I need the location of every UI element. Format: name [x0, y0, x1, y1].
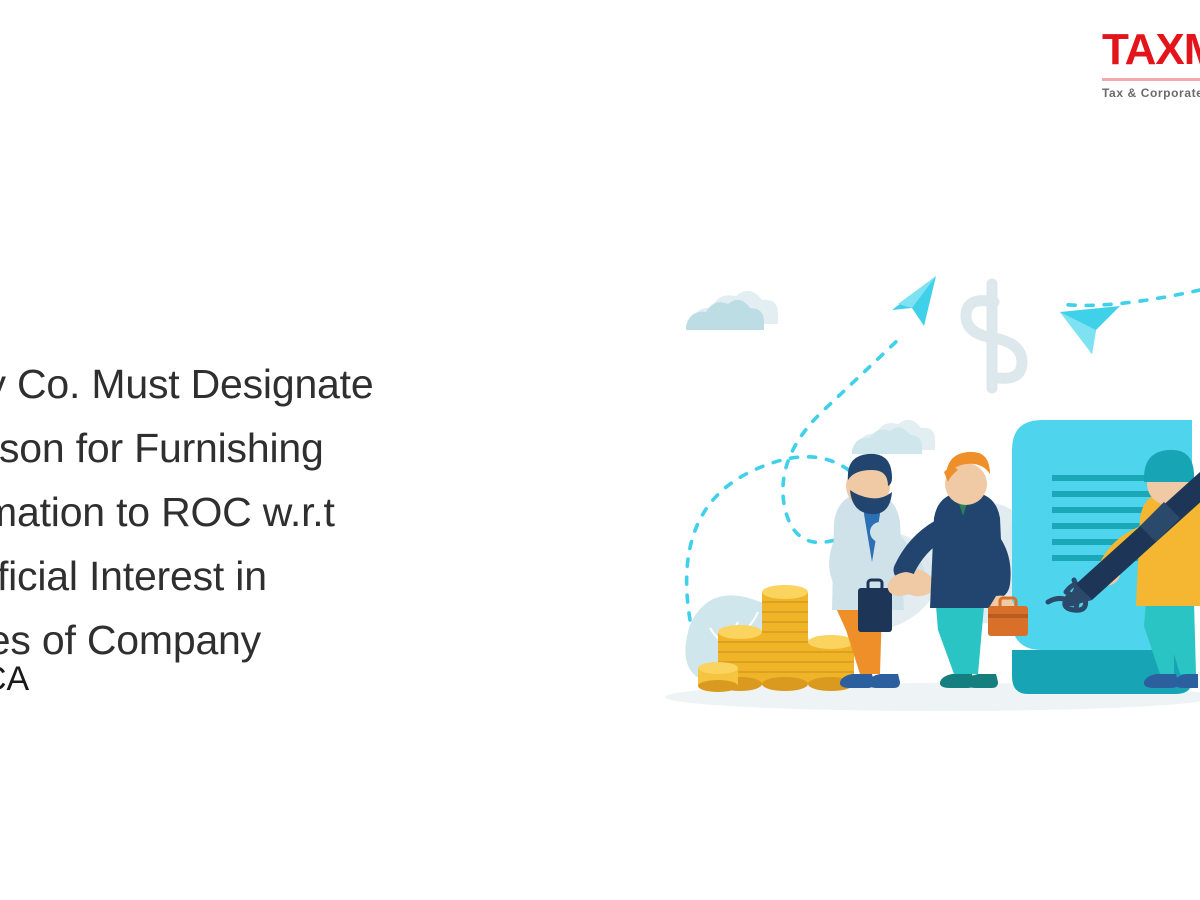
- byline: CA: [0, 660, 29, 699]
- business-agreement-illustration: [640, 250, 1200, 750]
- paper-plane-right-icon: [1060, 306, 1120, 354]
- logo-divider: [1102, 78, 1200, 81]
- headline-line-5: Shares of Company: [0, 608, 542, 672]
- cloud-left: [686, 291, 778, 330]
- businessman-right: [888, 452, 1028, 688]
- headline-line-4: Beneficial Interest in: [0, 544, 542, 608]
- headline-line-2: a Person for Furnishing: [0, 416, 542, 480]
- cloud-mid: [852, 420, 935, 454]
- banner-canvas: TAXMANN Tax & Corporate Laws of India Ev…: [0, 0, 1200, 900]
- headline-line-3: Information to ROC w.r.t: [0, 480, 542, 544]
- dollar-sign-icon: [966, 284, 1022, 388]
- headline-line-1: Every Co. Must Designate: [0, 352, 542, 416]
- page-title: Every Co. Must Designate a Person for Fu…: [0, 352, 542, 672]
- brand-logo[interactable]: TAXMANN Tax & Corporate Laws of India: [1102, 28, 1200, 100]
- paper-plane-left-icon: [892, 276, 936, 326]
- logo-wordmark: TAXMANN: [1102, 28, 1200, 72]
- logo-tagline: Tax & Corporate Laws of India: [1102, 86, 1200, 100]
